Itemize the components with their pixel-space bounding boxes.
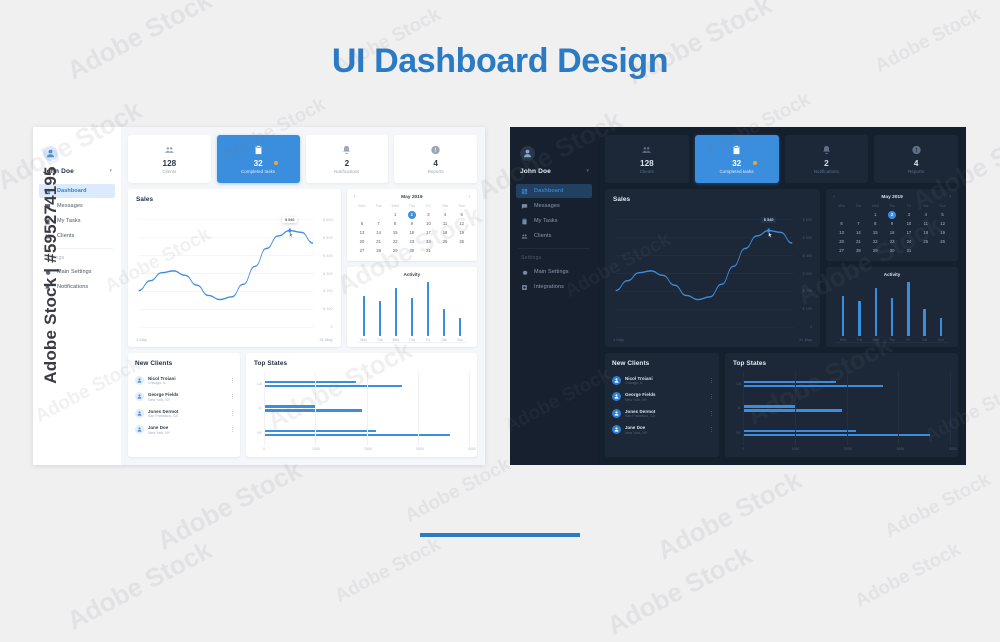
calendar-dow: Mon — [833, 204, 850, 210]
client-city: Chicago, IL — [148, 381, 225, 385]
bell-icon — [821, 145, 832, 156]
calendar-day[interactable]: 7 — [370, 220, 387, 228]
calendar-dow: Sat — [917, 204, 934, 210]
activity-bar-column[interactable]: Thu — [405, 281, 419, 342]
axis-tick-label: CA — [733, 382, 743, 386]
calendar-day[interactable]: 1 — [387, 211, 404, 219]
calendar-header: ‹ May 2019 › — [354, 195, 470, 200]
axis-tick-label: $ 400 — [323, 254, 333, 258]
sales-x-axis: 1 May 31 May — [136, 337, 333, 342]
axis-tick-label: 0 — [742, 447, 744, 451]
user-icon — [137, 427, 142, 432]
avatar — [135, 409, 144, 418]
message-icon — [521, 203, 528, 210]
calendar-month-label: May 2019 — [881, 195, 902, 200]
more-options-icon[interactable] — [708, 394, 712, 399]
calendar-day[interactable]: 31 — [420, 247, 437, 255]
plugin-icon — [521, 284, 528, 291]
mouse-cursor-icon — [289, 232, 294, 239]
alert-circle-icon — [430, 145, 441, 156]
states-x-axis: 01000200030004000 — [254, 447, 469, 453]
calendar-dow: Tue — [850, 204, 867, 210]
prev-month-button[interactable]: ‹ — [354, 195, 356, 200]
client-name: George Fields — [148, 392, 225, 397]
sidebar-item-messages[interactable]: Messages — [516, 199, 592, 213]
client-name: Jones Dermot — [148, 409, 225, 414]
sales-x-axis: 1 May 31 May — [613, 337, 812, 342]
client-name: Nicol Troiani — [148, 376, 225, 381]
calendar-day[interactable]: 9 — [884, 220, 901, 228]
list-item[interactable]: Jones Dermot San Francisco, CA — [135, 405, 233, 422]
axis-tick-label: 3000 — [416, 447, 424, 451]
calendar-day[interactable]: 16 — [884, 229, 901, 237]
stat-card-notifications[interactable]: 2 Notifications — [785, 135, 869, 183]
calendar-day[interactable]: 9 — [404, 220, 421, 228]
calendar-day[interactable]: 23 — [404, 238, 421, 246]
calendar-card: ‹ May 2019 › MonTueWedThuFriSatSun123456… — [826, 189, 958, 261]
sidebar-item-label: Main Settings — [534, 269, 569, 275]
stat-label: Notifications — [334, 169, 359, 174]
state-bar — [264, 430, 376, 432]
calendar-day[interactable]: 1 — [867, 211, 884, 219]
axis-tick-label: IL — [254, 406, 264, 410]
calendar-day[interactable]: 22 — [867, 238, 884, 246]
activity-bar — [875, 288, 877, 336]
axis-tick-label: 1000 — [792, 447, 800, 451]
list-item-text: George Fields New York, NY — [148, 392, 225, 402]
stat-value: 32 — [254, 159, 263, 168]
axis-tick-label: $ 300 — [323, 272, 333, 276]
activity-bar-column[interactable]: Sat — [437, 281, 451, 342]
calendar-day[interactable]: 8 — [387, 220, 404, 228]
axis-tick-label: NY — [254, 431, 264, 435]
people-icon — [164, 145, 175, 156]
sidebar-dark: John Doe ▾ Dashboard Messages My Tasks C… — [510, 127, 598, 465]
client-list: Nicol Troiani Chicago, IL George Fields … — [135, 372, 233, 438]
axis-tick-label: $ 500 — [803, 236, 813, 240]
list-item-text: Nicol Troiani Chicago, IL — [148, 376, 225, 386]
calendar-day[interactable]: 27 — [354, 247, 371, 255]
sidebar-item-label: My Tasks — [534, 218, 558, 224]
calendar-dow: Mon — [354, 204, 371, 210]
sales-chart-plot[interactable]: $ 600$ 500$ 400$ 300$ 200$ 1000$ 540 — [136, 207, 333, 335]
next-month-button[interactable]: › — [468, 195, 470, 200]
client-city: San Francisco, CA — [625, 414, 704, 418]
axis-tick-label: 1 May — [613, 337, 624, 342]
clipboard-icon — [521, 218, 528, 225]
stat-card-reports[interactable]: 4 Reports — [874, 135, 958, 183]
nav-settings-dark: Main Settings Integrations — [510, 265, 598, 294]
sidebar-item-clients[interactable]: Clients — [516, 229, 592, 243]
calendar-day[interactable]: 28 — [370, 247, 387, 255]
axis-tick-label: 31 May — [799, 337, 812, 342]
activity-chart-plot[interactable]: Mon Tue Wed Thu Fri — [833, 277, 951, 342]
state-bar-group[interactable] — [743, 405, 950, 411]
calendar-day[interactable]: 18 — [437, 229, 454, 237]
stat-card-clients[interactable]: 128 Clients — [605, 135, 689, 183]
activity-bar-column[interactable]: Sun — [453, 281, 467, 342]
state-bar — [743, 405, 796, 407]
calendar-day[interactable]: 3 — [900, 211, 917, 219]
sales-column-dark: Sales $ 600$ 500$ 400$ 300$ 200$ 1000$ 5… — [605, 189, 820, 347]
states-bars — [743, 372, 950, 445]
activity-bar-column[interactable]: Tue — [373, 281, 387, 342]
avatar — [612, 392, 621, 401]
stat-label: Clients — [162, 169, 176, 174]
stat-value: 128 — [163, 159, 177, 168]
calendar-day[interactable]: 26 — [453, 238, 470, 246]
stat-cards-light: 128 Clients 32 Completed tasks 2 Notific… — [128, 135, 477, 183]
calendar-day[interactable]: 18 — [917, 229, 934, 237]
avatar — [612, 409, 621, 418]
more-options-icon[interactable] — [708, 427, 712, 432]
state-bar — [743, 434, 930, 436]
activity-bar-column[interactable]: Wed — [389, 281, 403, 342]
client-name: Jones Dermot — [625, 409, 704, 414]
client-city: Chicago, IL — [625, 381, 704, 385]
avatar-wrap — [33, 137, 121, 161]
axis-tick-label: 0 — [810, 325, 812, 329]
stat-label: Clients — [640, 169, 654, 174]
axis-tick-label: IL — [733, 406, 743, 410]
activity-chart-plot[interactable]: Mon Tue Wed Thu Fri — [354, 277, 470, 342]
activity-chart-card: Activity Mon Tue Wed Thu — [347, 267, 477, 347]
calendar-day[interactable]: 10 — [420, 220, 437, 228]
calendar-day[interactable]: 20 — [354, 238, 371, 246]
calendar-day[interactable]: 16 — [404, 229, 421, 237]
new-clients-card: New Clients Nicol Troiani Chicago, IL — [128, 353, 240, 457]
state-bar-group[interactable] — [264, 430, 469, 436]
sidebar-item-my-tasks[interactable]: My Tasks — [516, 214, 592, 228]
gear-icon — [521, 269, 528, 276]
state-bar — [264, 381, 356, 383]
calendar-day[interactable]: 24 — [900, 238, 917, 246]
state-bar-group[interactable] — [264, 381, 469, 387]
list-item-text: Jane Doe New York, NY — [148, 425, 225, 435]
activity-bar-column[interactable]: Wed — [869, 281, 883, 342]
card-title: Sales — [136, 196, 333, 203]
calendar-day[interactable]: 22 — [387, 238, 404, 246]
activity-bar — [907, 282, 909, 336]
calendar-day[interactable]: 4 — [437, 211, 454, 219]
right-column-light: ‹ May 2019 › MonTueWedThuFriSatSun123456… — [347, 189, 477, 347]
sidebar-item-label: Messages — [534, 203, 560, 209]
card-title: Top States — [733, 360, 950, 367]
stat-value: 2 — [345, 159, 350, 168]
stat-value: 2 — [824, 159, 829, 168]
card-title: New Clients — [612, 360, 712, 367]
calendar-day[interactable]: 2 — [884, 211, 901, 219]
calendar-day[interactable]: 13 — [354, 229, 371, 237]
avatar[interactable] — [43, 146, 58, 161]
stat-card-reports[interactable]: 4 Reports — [394, 135, 477, 183]
avatar[interactable] — [520, 146, 535, 161]
list-item[interactable]: Jones Dermot San Francisco, CA — [612, 405, 712, 422]
status-badge-dot — [274, 161, 278, 165]
clipboard-check-icon — [731, 145, 742, 156]
calendar-day[interactable]: 5 — [453, 211, 470, 219]
calendar-day[interactable]: 17 — [900, 229, 917, 237]
activity-bar — [363, 296, 365, 336]
calendar-day[interactable]: 17 — [420, 229, 437, 237]
activity-bar-column[interactable]: Mon — [357, 281, 371, 342]
calendar-day[interactable]: 15 — [867, 229, 884, 237]
list-item[interactable]: Nicol Troiani Chicago, IL — [612, 372, 712, 389]
calendar-blank — [850, 211, 867, 219]
stat-card-completed-tasks[interactable]: 32 Completed tasks — [217, 135, 300, 183]
calendar-dow: Thu — [884, 204, 901, 210]
watermark-text: Adobe Stock — [62, 535, 217, 637]
axis-tick-label: $ 500 — [323, 236, 333, 240]
more-options-icon[interactable] — [229, 378, 233, 383]
client-city: New York, NY — [625, 398, 704, 402]
calendar-day[interactable]: 13 — [833, 229, 850, 237]
mid-row-dark: Sales $ 600$ 500$ 400$ 300$ 200$ 1000$ 5… — [605, 189, 958, 347]
sidebar-item-label: Notifications — [57, 284, 88, 290]
state-bar-group[interactable] — [743, 430, 950, 436]
calendar-day[interactable]: 20 — [833, 238, 850, 246]
status-badge-dot — [753, 161, 757, 165]
calendar-day[interactable]: 19 — [934, 229, 951, 237]
card-title: Sales — [613, 196, 812, 203]
sidebar-item-integrations[interactable]: Integrations — [516, 280, 592, 294]
calendar-day[interactable]: 19 — [453, 229, 470, 237]
sidebar-item-label: Integrations — [534, 284, 564, 290]
axis-tick-label: 2000 — [364, 447, 372, 451]
calendar-grid: MonTueWedThuFriSatSun1234567891011121314… — [354, 204, 470, 255]
calendar-day[interactable]: 10 — [900, 220, 917, 228]
stat-value: 4 — [914, 159, 919, 168]
list-item-text: George Fields New York, NY — [625, 392, 704, 402]
watermark-text: Adobe Stock — [882, 469, 995, 543]
client-name: Nicol Troiani — [625, 376, 704, 381]
watermark-text: Adobe Stock — [852, 539, 965, 613]
alert-circle-icon — [911, 145, 922, 156]
state-bar-group[interactable] — [264, 405, 469, 411]
axis-tick-label: 1000 — [312, 447, 320, 451]
calendar-day[interactable]: 4 — [917, 211, 934, 219]
calendar-month-label: May 2019 — [401, 195, 422, 200]
client-city: New York, NY — [148, 398, 225, 402]
stat-value: 128 — [640, 159, 654, 168]
watermark-text: Adobe Stock — [332, 534, 445, 608]
top-states-plot[interactable]: CAILNY — [254, 372, 469, 445]
state-bar — [743, 409, 842, 411]
chevron-down-icon[interactable]: ▾ — [586, 169, 589, 174]
sidebar-item-main-settings[interactable]: Main Settings — [516, 265, 592, 279]
activity-bar-column[interactable]: Fri — [901, 281, 915, 342]
sales-line-svg — [613, 207, 812, 335]
activity-bar — [842, 296, 844, 336]
calendar-day[interactable]: 25 — [437, 238, 454, 246]
stat-label: Completed tasks — [720, 169, 754, 174]
bell-icon — [341, 145, 352, 156]
watermark-text: Adobe Stock — [652, 465, 807, 567]
axis-tick-label: $ 400 — [803, 254, 813, 258]
calendar-day[interactable]: 26 — [934, 238, 951, 246]
list-item-text: Jones Dermot San Francisco, CA — [625, 409, 704, 419]
axis-tick-label: $ 600 — [803, 218, 813, 222]
activity-bar-column[interactable]: Sun — [934, 281, 948, 342]
axis-tick-label: 4000 — [468, 447, 476, 451]
top-states-card: Top States CAILNY 01000200030004000 — [725, 353, 958, 457]
more-options-icon[interactable] — [229, 427, 233, 432]
calendar-day[interactable]: 6 — [354, 220, 371, 228]
prev-month-button[interactable]: ‹ — [833, 195, 835, 200]
activity-bar — [411, 298, 413, 336]
sidebar-item-dashboard[interactable]: Dashboard — [516, 184, 592, 198]
activity-bar-column[interactable]: Tue — [852, 281, 866, 342]
top-states-plot[interactable]: CAILNY — [733, 372, 950, 445]
sales-chart-plot[interactable]: $ 600$ 500$ 400$ 300$ 200$ 1000$ 540 — [613, 207, 812, 335]
nav-section-label: Settings — [510, 249, 598, 265]
calendar-day[interactable]: 28 — [850, 247, 867, 255]
activity-bar-column[interactable]: Thu — [885, 281, 899, 342]
chevron-down-icon[interactable]: ▾ — [109, 169, 112, 174]
calendar-day[interactable]: 7 — [850, 220, 867, 228]
calendar-day[interactable]: 11 — [917, 220, 934, 228]
state-bar — [743, 430, 856, 432]
calendar-day[interactable]: 29 — [867, 247, 884, 255]
calendar-day[interactable]: 23 — [884, 238, 901, 246]
sidebar-item-label: Dashboard — [534, 188, 564, 194]
calendar-dow: Thu — [404, 204, 421, 210]
activity-chart-card: Activity Mon Tue Wed Thu — [826, 267, 958, 347]
calendar-day[interactable]: 21 — [370, 238, 387, 246]
axis-tick-label: $ 100 — [323, 307, 333, 311]
list-item[interactable]: Jane Doe New York, NY — [135, 422, 233, 439]
calendar-grid: MonTueWedThuFriSatSun1234567891011121314… — [833, 204, 951, 255]
calendar-day[interactable]: 27 — [833, 247, 850, 255]
calendar-dow: Fri — [900, 204, 917, 210]
activity-bar-column[interactable]: Fri — [421, 281, 435, 342]
more-options-icon[interactable] — [708, 378, 712, 383]
sidebar-item-label: Main Settings — [57, 269, 92, 275]
calendar-day[interactable]: 11 — [437, 220, 454, 228]
calendar-day[interactable]: 14 — [370, 229, 387, 237]
mid-row-light: Sales $ 600$ 500$ 400$ 300$ 200$ 1000$ 5… — [128, 189, 477, 347]
axis-tick-label: 0 — [331, 325, 333, 329]
calendar-day[interactable]: 8 — [867, 220, 884, 228]
state-bar — [264, 405, 316, 407]
more-options-icon[interactable] — [229, 411, 233, 416]
axis-tick-label: 2000 — [844, 447, 852, 451]
activity-bar — [923, 309, 925, 336]
stat-card-completed-tasks[interactable]: 32 Completed tasks — [695, 135, 779, 183]
calendar-day[interactable]: 29 — [387, 247, 404, 255]
clipboard-check-icon — [253, 145, 264, 156]
states-y-axis: CAILNY — [733, 372, 743, 445]
calendar-day[interactable]: 30 — [884, 247, 901, 255]
calendar-day[interactable]: 24 — [420, 238, 437, 246]
calendar-day[interactable]: 2 — [404, 211, 421, 219]
mouse-cursor-icon — [768, 232, 773, 239]
right-column-dark: ‹ May 2019 › MonTueWedThuFriSatSun123456… — [826, 189, 958, 347]
stat-card-notifications[interactable]: 2 Notifications — [306, 135, 389, 183]
client-name: Jane Doe — [625, 425, 704, 430]
activity-bar — [459, 318, 461, 336]
dashboard-grid-icon — [521, 188, 528, 195]
calendar-day[interactable]: 15 — [387, 229, 404, 237]
calendar-header: ‹ May 2019 › — [833, 195, 951, 200]
calendar-day[interactable]: 3 — [420, 211, 437, 219]
stock-credit: Adobe Stock | #595274195 — [41, 160, 61, 390]
sales-chart-card: Sales $ 600$ 500$ 400$ 300$ 200$ 1000$ 5… — [605, 189, 820, 347]
calendar-day[interactable]: 12 — [453, 220, 470, 228]
calendar-dow: Fri — [420, 204, 437, 210]
stat-value: 4 — [433, 159, 438, 168]
stat-cards-dark: 128 Clients 32 Completed tasks 2 Notific… — [605, 135, 958, 183]
axis-tick-label: $ 300 — [803, 272, 813, 276]
calendar-day[interactable]: 31 — [900, 247, 917, 255]
watermark-text: Adobe Stock — [402, 454, 515, 528]
calendar-day[interactable]: 21 — [850, 238, 867, 246]
user-icon — [614, 394, 619, 399]
top-states-card: Top States CAILNY 01000200030004000 — [246, 353, 477, 457]
user-menu[interactable]: John Doe ▾ — [510, 161, 598, 184]
axis-tick-label: $ 200 — [323, 289, 333, 293]
calendar-day[interactable]: 30 — [404, 247, 421, 255]
user-icon — [614, 427, 619, 432]
user-icon — [46, 149, 55, 158]
user-name: John Doe — [520, 168, 551, 175]
state-bar — [264, 434, 450, 436]
calendar-day[interactable]: 5 — [934, 211, 951, 219]
gridline — [469, 372, 470, 445]
more-options-icon[interactable] — [708, 411, 712, 416]
list-item-text: Jane Doe New York, NY — [625, 425, 704, 435]
list-item[interactable]: George Fields New York, NY — [612, 389, 712, 406]
list-item[interactable]: Jane Doe New York, NY — [612, 422, 712, 439]
state-bar-group[interactable] — [743, 381, 950, 387]
list-item[interactable]: Nicol Troiani Chicago, IL — [135, 372, 233, 389]
activity-bar-column[interactable]: Mon — [836, 281, 850, 342]
more-options-icon[interactable] — [229, 394, 233, 399]
calendar-blank — [354, 211, 371, 219]
calendar-dow: Tue — [370, 204, 387, 210]
calendar-day[interactable]: 14 — [850, 229, 867, 237]
next-month-button[interactable]: › — [949, 195, 951, 200]
chart-tooltip: $ 540 — [282, 217, 298, 223]
sales-line-svg — [136, 207, 333, 335]
stat-label: Reports — [428, 169, 444, 174]
user-icon — [523, 149, 532, 158]
calendar-day[interactable]: 12 — [934, 220, 951, 228]
state-bar — [264, 409, 362, 411]
activity-axis-line — [357, 342, 467, 343]
activity-bar — [395, 288, 397, 336]
user-icon — [137, 411, 142, 416]
people-icon — [521, 233, 528, 240]
axis-tick-label: $ 200 — [803, 289, 813, 293]
axis-tick-label: NY — [733, 431, 743, 435]
card-title: Top States — [254, 360, 469, 367]
nav-primary-dark: Dashboard Messages My Tasks Clients — [510, 184, 598, 243]
watermark-text: Adobe Stock — [152, 455, 307, 557]
calendar-day[interactable]: 6 — [833, 220, 850, 228]
stat-card-clients[interactable]: 128 Clients — [128, 135, 211, 183]
calendar-dow: Sat — [437, 204, 454, 210]
people-icon — [641, 145, 652, 156]
sidebar-item-label: Clients — [534, 233, 552, 239]
calendar-day[interactable]: 25 — [917, 238, 934, 246]
list-item[interactable]: George Fields New York, NY — [135, 389, 233, 406]
gridline — [950, 372, 951, 445]
activity-bar-column[interactable]: Sat — [917, 281, 931, 342]
stat-value: 32 — [732, 159, 741, 168]
avatar — [135, 376, 144, 385]
stat-label: Completed tasks — [241, 169, 275, 174]
